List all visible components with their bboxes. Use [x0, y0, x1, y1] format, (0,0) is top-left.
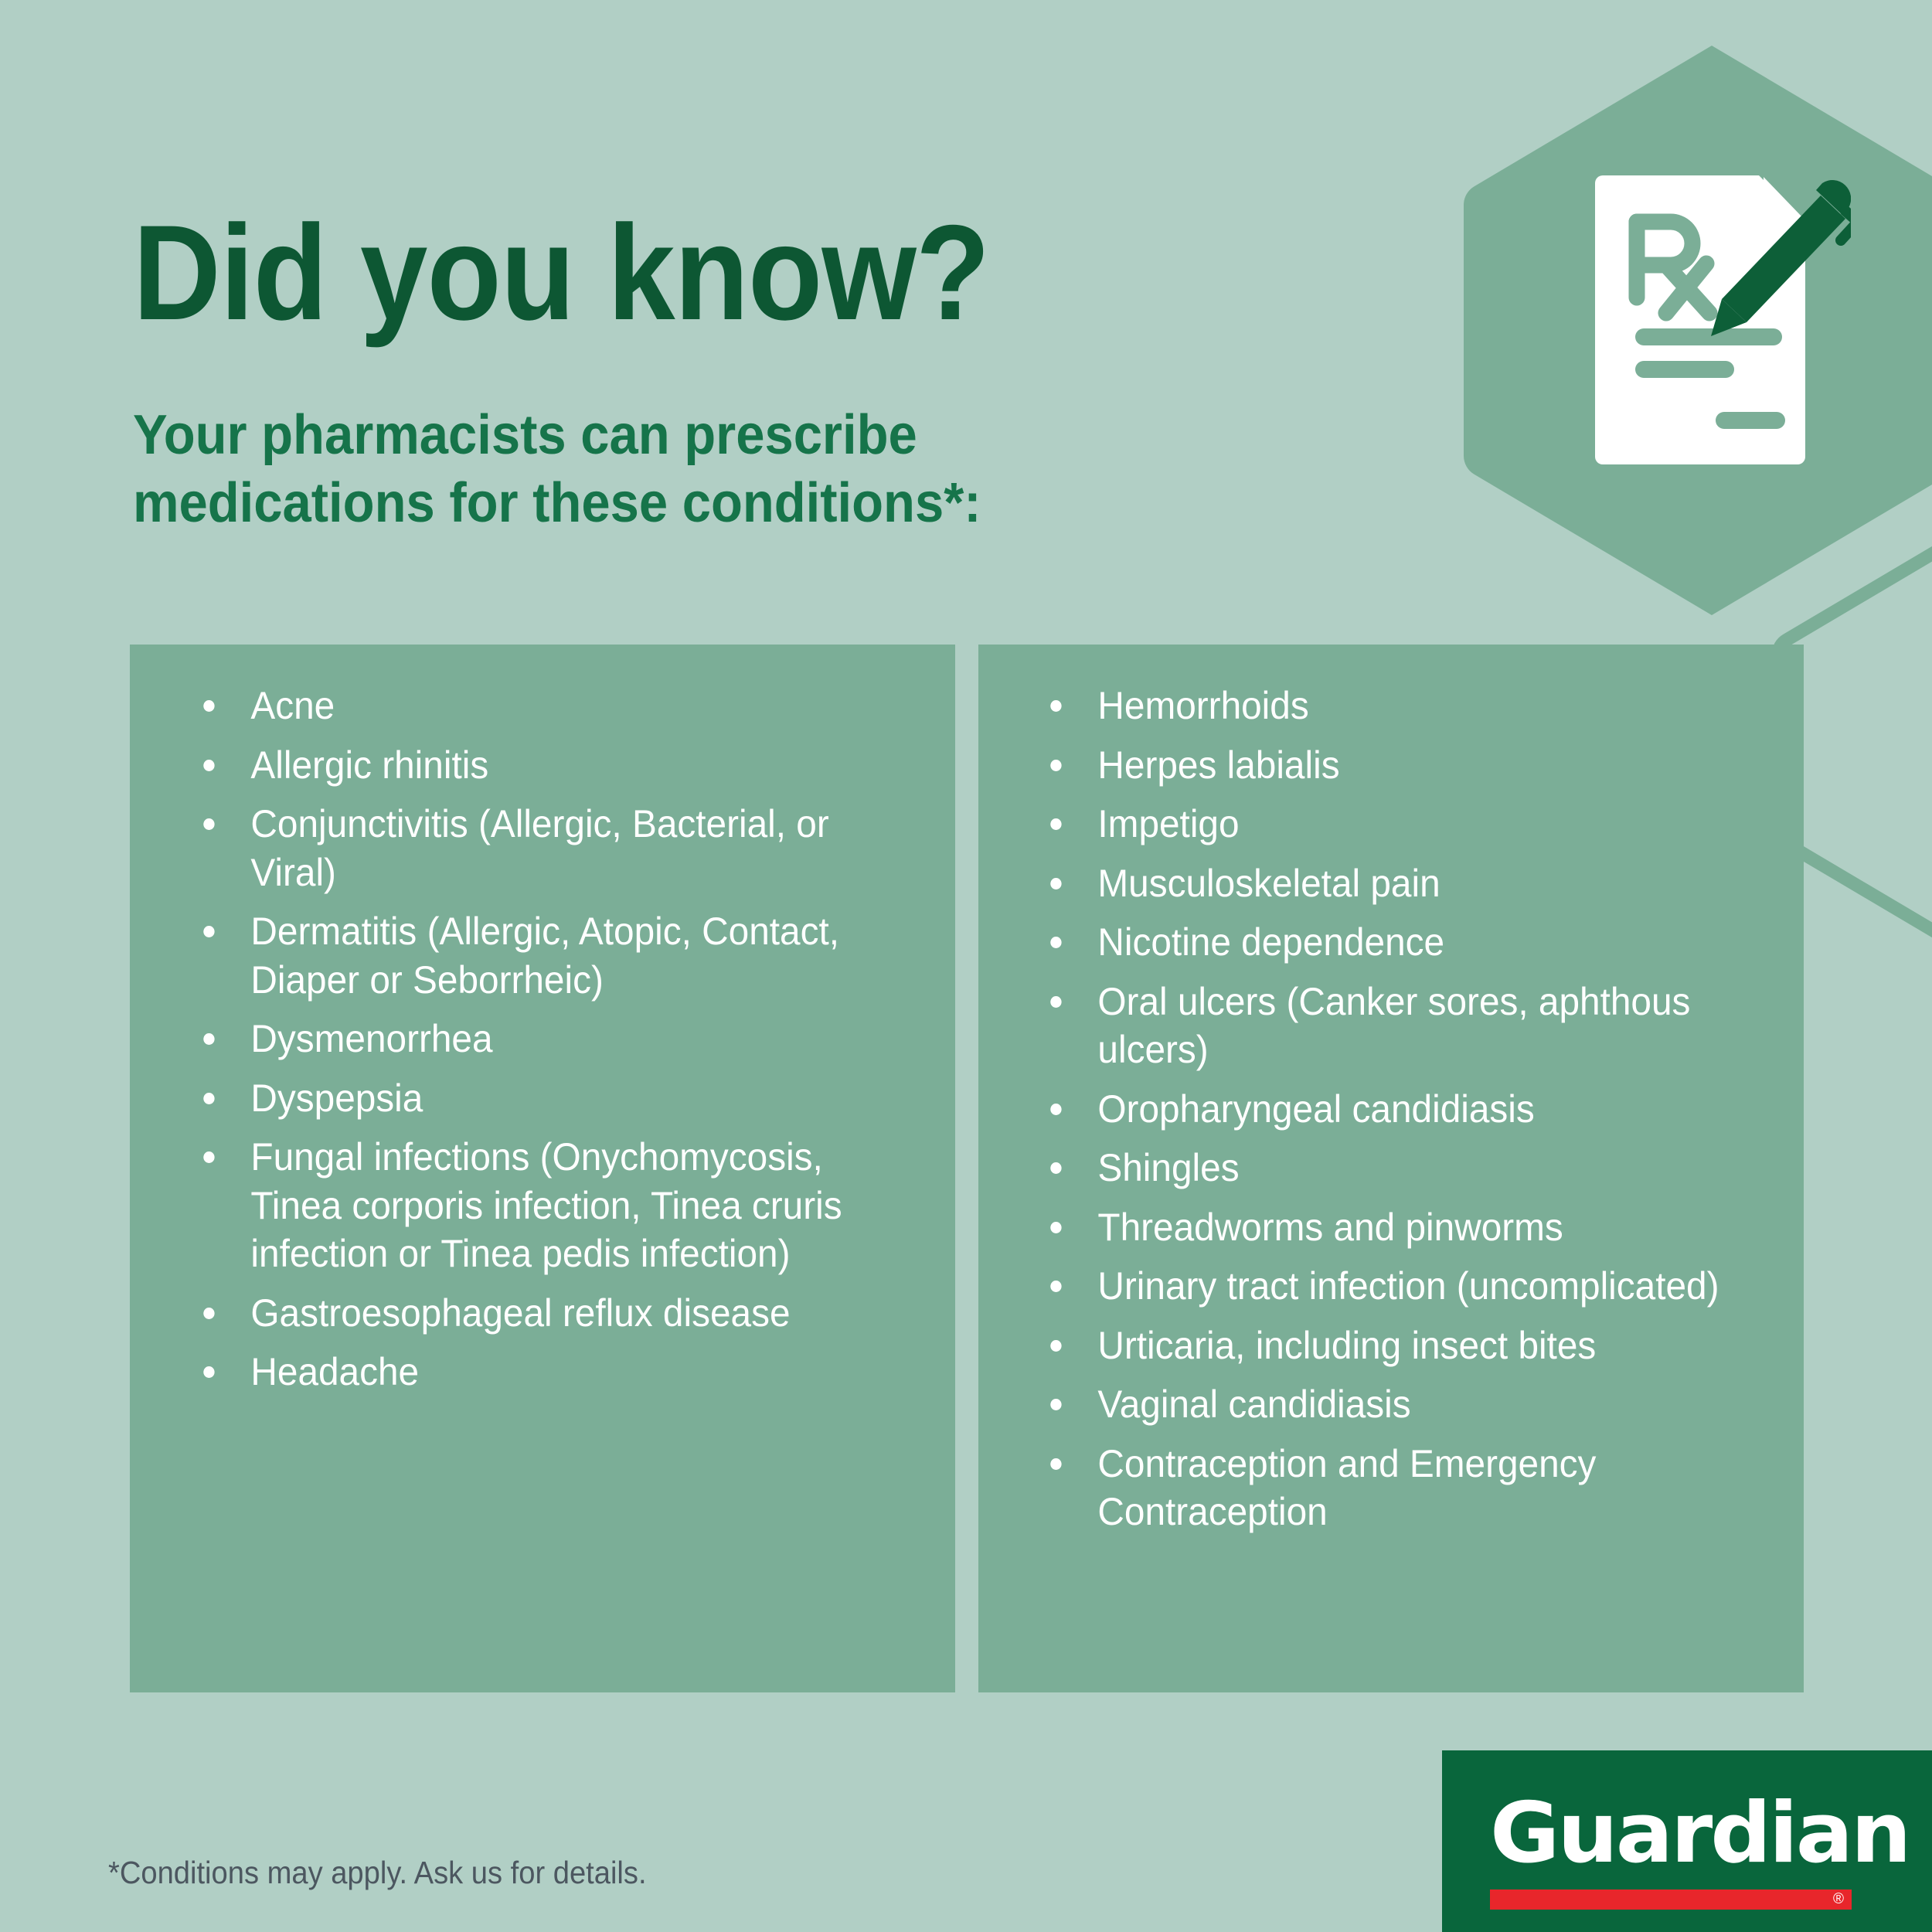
hexagon-filled-icon — [1461, 43, 1932, 618]
bullet-icon — [1050, 700, 1061, 712]
condition-label: Herpes labialis — [1097, 743, 1339, 787]
condition-label: Musculoskeletal pain — [1097, 862, 1440, 905]
bullet-icon — [1050, 760, 1061, 771]
page-title: Did you know? — [133, 205, 989, 343]
condition-item: Nicotine dependence — [1039, 918, 1753, 967]
bullet-icon — [203, 1151, 214, 1163]
bullet-icon — [203, 760, 214, 771]
condition-item: Impetigo — [1039, 800, 1753, 849]
subtitle: Your pharmacists can prescribe medicatio… — [133, 402, 1254, 538]
condition-label: Conjunctivitis (Allergic, Bacterial, or … — [250, 802, 828, 894]
condition-label: Acne — [250, 684, 335, 727]
bullet-icon — [1050, 878, 1061, 889]
condition-item: Urinary tract infection (uncomplicated) — [1039, 1262, 1753, 1311]
condition-label: Oropharyngeal candidiasis — [1097, 1087, 1534, 1131]
bullet-icon — [1050, 1222, 1061, 1233]
condition-label: Dyspepsia — [250, 1077, 423, 1120]
condition-item: Hemorrhoids — [1039, 682, 1753, 730]
condition-item: Dysmenorrhea — [192, 1015, 899, 1063]
bullet-icon — [1050, 1162, 1061, 1174]
infographic-poster: Did you know? Your pharmacists can presc… — [0, 0, 1932, 1932]
bullet-icon — [1050, 818, 1061, 830]
bullet-icon — [203, 1366, 214, 1378]
subtitle-line-2: medications for these conditions*: — [133, 470, 1254, 538]
condition-label: Vaginal candidiasis — [1097, 1383, 1410, 1426]
condition-label: Headache — [250, 1350, 419, 1393]
condition-label: Dermatitis (Allergic, Atopic, Contact, D… — [250, 910, 839, 1002]
condition-item: Oral ulcers (Canker sores, aphthous ulce… — [1039, 978, 1753, 1074]
condition-item: Threadworms and pinworms — [1039, 1203, 1753, 1252]
condition-item: Fungal infections (Onychomycosis, Tinea … — [192, 1133, 899, 1278]
bullet-icon — [203, 926, 214, 937]
condition-label: Hemorrhoids — [1097, 684, 1308, 727]
condition-label: Impetigo — [1097, 802, 1239, 845]
bullet-icon — [1050, 1458, 1061, 1470]
condition-item: Musculoskeletal pain — [1039, 859, 1753, 908]
condition-label: Contraception and Emergency Contraceptio… — [1097, 1442, 1596, 1534]
condition-label: Shingles — [1097, 1146, 1239, 1189]
condition-label: Fungal infections (Onychomycosis, Tinea … — [250, 1135, 842, 1275]
condition-item: Herpes labialis — [1039, 741, 1753, 790]
condition-item: Dyspepsia — [192, 1074, 899, 1123]
bullet-icon — [203, 700, 214, 712]
condition-item: Allergic rhinitis — [192, 741, 899, 790]
rx-prescription-document-with-pen-icon — [1592, 166, 1851, 475]
guardian-logo-rule: ® — [1490, 1889, 1852, 1910]
bullet-icon — [203, 1033, 214, 1045]
bullet-icon — [203, 1093, 214, 1104]
conditions-panel-right: HemorrhoidsHerpes labialisImpetigoMuscul… — [978, 645, 1804, 1692]
condition-label: Gastroesophageal reflux disease — [250, 1291, 790, 1335]
condition-item: Acne — [192, 682, 899, 730]
footnote-disclaimer: *Conditions may apply. Ask us for detail… — [108, 1855, 647, 1891]
bullet-icon — [1050, 937, 1061, 948]
bullet-icon — [1050, 1340, 1061, 1352]
bullet-icon — [203, 1308, 214, 1319]
bullet-icon — [1050, 1104, 1061, 1115]
condition-label: Allergic rhinitis — [250, 743, 488, 787]
condition-label: Nicotine dependence — [1097, 920, 1444, 964]
registered-trademark-icon: ® — [1833, 1892, 1844, 1907]
bullet-icon — [1050, 996, 1061, 1008]
condition-item: Vaginal candidiasis — [1039, 1380, 1753, 1429]
condition-item: Headache — [192, 1348, 899, 1396]
condition-item: Dermatitis (Allergic, Atopic, Contact, D… — [192, 907, 899, 1004]
condition-item: Gastroesophageal reflux disease — [192, 1289, 899, 1338]
condition-item: Contraception and Emergency Contraceptio… — [1039, 1440, 1753, 1536]
condition-label: Oral ulcers (Canker sores, aphthous ulce… — [1097, 980, 1690, 1072]
guardian-wordmark: Guardian — [1490, 1792, 1909, 1876]
bullet-icon — [203, 818, 214, 830]
condition-label: Dysmenorrhea — [250, 1017, 492, 1060]
condition-item: Shingles — [1039, 1144, 1753, 1192]
condition-item: Conjunctivitis (Allergic, Bacterial, or … — [192, 800, 899, 896]
condition-label: Urinary tract infection (uncomplicated) — [1097, 1264, 1719, 1308]
conditions-list-right: HemorrhoidsHerpes labialisImpetigoMuscul… — [1039, 682, 1787, 1547]
conditions-list-left: AcneAllergic rhinitisConjunctivitis (All… — [192, 682, 932, 1407]
bullet-icon — [1050, 1281, 1061, 1292]
conditions-panel-left: AcneAllergic rhinitisConjunctivitis (All… — [130, 645, 955, 1692]
guardian-logo: Guardian ® — [1442, 1750, 1932, 1932]
condition-label: Threadworms and pinworms — [1097, 1206, 1563, 1249]
bullet-icon — [1050, 1399, 1061, 1410]
subtitle-line-1: Your pharmacists can prescribe — [133, 402, 1254, 470]
condition-item: Oropharyngeal candidiasis — [1039, 1085, 1753, 1134]
condition-label: Urticaria, including insect bites — [1097, 1324, 1596, 1367]
condition-item: Urticaria, including insect bites — [1039, 1321, 1753, 1370]
